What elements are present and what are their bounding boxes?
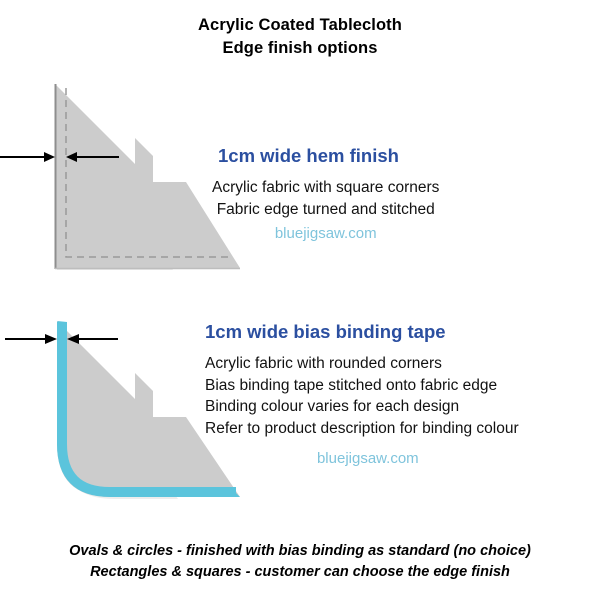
hem-width-arrow-left <box>0 152 55 162</box>
footer-note: Ovals & circles - finished with bias bin… <box>0 541 600 583</box>
bias-brand-label: bluejigsaw.com <box>205 448 519 469</box>
binding-width-arrow-left <box>5 334 57 344</box>
title-line-1: Acrylic Coated Tablecloth <box>0 14 600 37</box>
footer-line-2: Rectangles & squares - customer can choo… <box>0 562 600 583</box>
bias-desc-line-4: Refer to product description for binding… <box>205 418 519 440</box>
hem-heading: 1cm wide hem finish <box>218 144 439 168</box>
bias-desc-line-2: Bias binding tape stitched onto fabric e… <box>205 375 519 397</box>
bias-desc-line-1: Acrylic fabric with rounded corners <box>205 353 519 375</box>
page-title: Acrylic Coated Tablecloth Edge finish op… <box>0 14 600 60</box>
bias-section-text: 1cm wide bias binding tape Acrylic fabri… <box>205 320 519 469</box>
footer-line-1: Ovals & circles - finished with bias bin… <box>0 541 600 562</box>
hem-brand-label: bluejigsaw.com <box>212 223 439 244</box>
title-line-2: Edge finish options <box>0 37 600 60</box>
bias-heading: 1cm wide bias binding tape <box>205 320 519 344</box>
hem-section-text: 1cm wide hem finish Acrylic fabric with … <box>212 144 439 244</box>
hem-desc-line-1: Acrylic fabric with square corners <box>212 177 439 199</box>
hem-desc-line-2: Fabric edge turned and stitched <box>212 199 439 221</box>
infographic-page: Acrylic Coated Tablecloth Edge finish op… <box>0 0 600 600</box>
hem-description: Acrylic fabric with square corners Fabri… <box>212 177 439 220</box>
bias-description: Acrylic fabric with rounded corners Bias… <box>205 353 519 439</box>
bias-desc-line-3: Binding colour varies for each design <box>205 396 519 418</box>
